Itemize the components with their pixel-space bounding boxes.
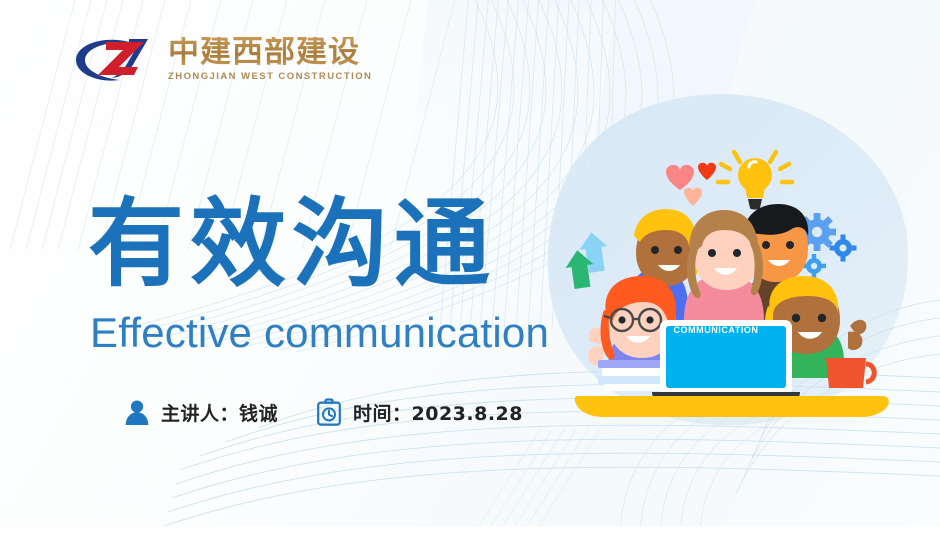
gear-icon (830, 235, 857, 262)
slide-meta-row: 主讲人：钱诚 时间：2023.8.28 (124, 398, 523, 426)
illustration-artwork (560, 120, 900, 420)
lightbulb-icon (718, 152, 792, 210)
clipboard-clock-icon (316, 398, 342, 426)
coffee-mug (826, 358, 874, 388)
desk-surface (575, 396, 889, 417)
brand-logo-text: 中建西部建设 ZHONGJIAN WEST CONSTRUCTION (168, 37, 372, 82)
heart-icon (698, 163, 716, 180)
bottom-white-band (0, 526, 940, 540)
presentation-slide: 中建西部建设 ZHONGJIAN WEST CONSTRUCTION 有效沟通 … (0, 0, 940, 540)
slide-title-cn: 有效沟通 (88, 196, 496, 292)
brand-logo: 中建西部建设 ZHONGJIAN WEST CONSTRUCTION (72, 33, 372, 85)
books-stack (598, 360, 666, 391)
heart-icon (666, 165, 694, 190)
team-communication-illustration (560, 120, 900, 420)
speaker-meta: 主讲人：钱诚 (124, 398, 278, 426)
laptop (652, 320, 800, 403)
zhongjian-z-swoosh-icon (72, 33, 158, 85)
slide-title-en: Effective communication (90, 310, 549, 356)
date-meta: 时间：2023.8.28 (316, 398, 523, 426)
brand-name-en: ZHONGJIAN WEST CONSTRUCTION (168, 72, 372, 82)
person-icon (124, 398, 150, 426)
date-label: 时间：2023.8.28 (353, 399, 523, 426)
brand-name-cn: 中建西部建设 (168, 37, 360, 68)
heart-icon (684, 188, 702, 206)
speaker-label: 主讲人：钱诚 (161, 399, 278, 426)
